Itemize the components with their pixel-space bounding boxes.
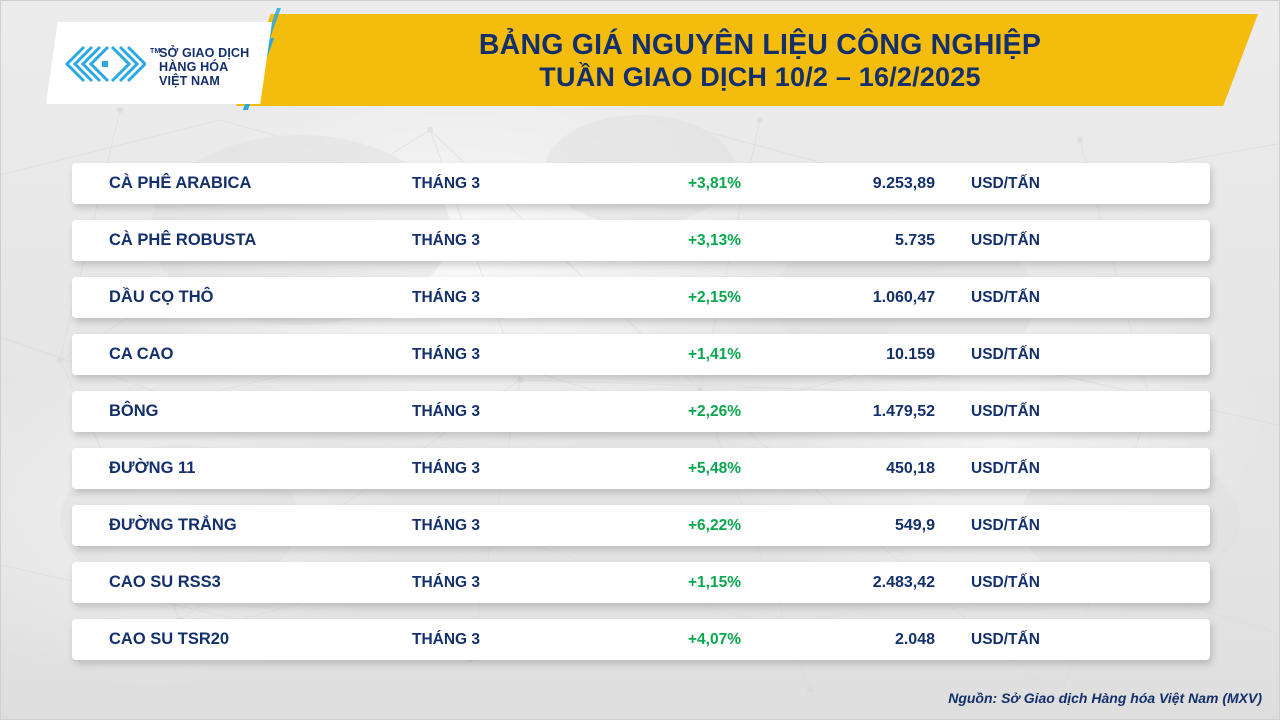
mxv-chevron-logo-icon: [64, 45, 146, 83]
row-contract-month: THÁNG 3: [412, 574, 622, 592]
row-unit: USD/TẤN: [935, 460, 1105, 478]
row-change-percent: +1,41%: [622, 346, 807, 364]
table-row[interactable]: DẦU CỌ THÔTHÁNG 3+2,15%1.060,47USD/TẤN: [72, 277, 1210, 318]
row-price: 450,18: [807, 460, 935, 478]
row-change-percent: +5,48%: [622, 460, 807, 478]
brand-name-line-2: HÀNG HÓA: [159, 60, 249, 74]
row-change-percent: +3,81%: [622, 175, 807, 193]
row-price: 5.735: [807, 232, 935, 250]
row-commodity-name: BÔNG: [72, 402, 412, 421]
row-commodity-name: ĐƯỜNG TRẮNG: [72, 516, 412, 535]
row-change-percent: +4,07%: [622, 631, 807, 649]
row-commodity-name: CÀ PHÊ ARABICA: [72, 174, 412, 193]
row-unit: USD/TẤN: [935, 289, 1105, 307]
row-commodity-name: CAO SU RSS3: [72, 573, 412, 592]
row-unit: USD/TẤN: [935, 403, 1105, 421]
brand-name-line-1: SỞ GIAO DỊCH: [159, 46, 249, 60]
row-price: 2.483,42: [807, 574, 935, 592]
row-change-percent: +2,15%: [622, 289, 807, 307]
brand-name-line-3: VIỆT NAM: [159, 74, 249, 88]
row-commodity-name: CAO SU TSR20: [72, 630, 412, 649]
table-row[interactable]: CAO SU RSS3THÁNG 3+1,15%2.483,42USD/TẤN: [72, 562, 1210, 603]
row-change-percent: +6,22%: [622, 517, 807, 535]
page-title-line-1: BẢNG GIÁ NGUYÊN LIỆU CÔNG NGHIỆP: [479, 29, 1041, 62]
row-price: 1.479,52: [807, 403, 935, 421]
row-contract-month: THÁNG 3: [412, 175, 622, 193]
row-change-percent: +3,13%: [622, 232, 807, 250]
row-contract-month: THÁNG 3: [412, 517, 622, 535]
row-price: 9.253,89: [807, 175, 935, 193]
row-price: 2.048: [807, 631, 935, 649]
row-price: 10.159: [807, 346, 935, 364]
row-contract-month: THÁNG 3: [412, 403, 622, 421]
source-note: Nguồn: Sở Giao dịch Hàng hóa Việt Nam (M…: [948, 690, 1262, 706]
table-row[interactable]: ĐƯỜNG 11THÁNG 3+5,48%450,18USD/TẤN: [72, 448, 1210, 489]
row-change-percent: +2,26%: [622, 403, 807, 421]
row-unit: USD/TẤN: [935, 574, 1105, 592]
row-contract-month: THÁNG 3: [412, 289, 622, 307]
commodity-price-table: CÀ PHÊ ARABICATHÁNG 3+3,81%9.253,89USD/T…: [72, 163, 1210, 660]
table-row[interactable]: CÀ PHÊ ARABICATHÁNG 3+3,81%9.253,89USD/T…: [72, 163, 1210, 204]
table-row[interactable]: ĐƯỜNG TRẮNGTHÁNG 3+6,22%549,9USD/TẤN: [72, 505, 1210, 546]
row-contract-month: THÁNG 3: [412, 346, 622, 364]
row-contract-month: THÁNG 3: [412, 460, 622, 478]
brand-logo-card[interactable]: TM SỞ GIAO DỊCH HÀNG HÓA VIỆT NAM: [46, 22, 272, 104]
row-commodity-name: CÀ PHÊ ROBUSTA: [72, 231, 412, 250]
row-commodity-name: CA CAO: [72, 345, 412, 364]
row-unit: USD/TẤN: [935, 517, 1105, 535]
page-header: TM SỞ GIAO DỊCH HÀNG HÓA VIỆT NAM BẢNG G…: [0, 0, 1280, 122]
row-change-percent: +1,15%: [622, 574, 807, 592]
row-price: 1.060,47: [807, 289, 935, 307]
row-unit: USD/TẤN: [935, 346, 1105, 364]
brand-name: SỞ GIAO DỊCH HÀNG HÓA VIỆT NAM: [159, 46, 249, 88]
row-unit: USD/TẤN: [935, 631, 1105, 649]
row-unit: USD/TẤN: [935, 232, 1105, 250]
page-title-line-2: TUẦN GIAO DỊCH 10/2 – 16/2/2025: [539, 62, 980, 93]
price-board-page: TM SỞ GIAO DỊCH HÀNG HÓA VIỆT NAM BẢNG G…: [0, 0, 1280, 720]
row-price: 549,9: [807, 517, 935, 535]
page-title: BẢNG GIÁ NGUYÊN LIỆU CÔNG NGHIỆP TUẦN GI…: [320, 22, 1200, 100]
row-commodity-name: ĐƯỜNG 11: [72, 459, 412, 478]
table-row[interactable]: BÔNGTHÁNG 3+2,26%1.479,52USD/TẤN: [72, 391, 1210, 432]
table-row[interactable]: CÀ PHÊ ROBUSTATHÁNG 3+3,13%5.735USD/TẤN: [72, 220, 1210, 261]
row-commodity-name: DẦU CỌ THÔ: [72, 288, 412, 307]
table-row[interactable]: CAO SU TSR20THÁNG 3+4,07%2.048USD/TẤN: [72, 619, 1210, 660]
row-contract-month: THÁNG 3: [412, 631, 622, 649]
table-row[interactable]: CA CAOTHÁNG 3+1,41%10.159USD/TẤN: [72, 334, 1210, 375]
row-contract-month: THÁNG 3: [412, 232, 622, 250]
row-unit: USD/TẤN: [935, 175, 1105, 193]
